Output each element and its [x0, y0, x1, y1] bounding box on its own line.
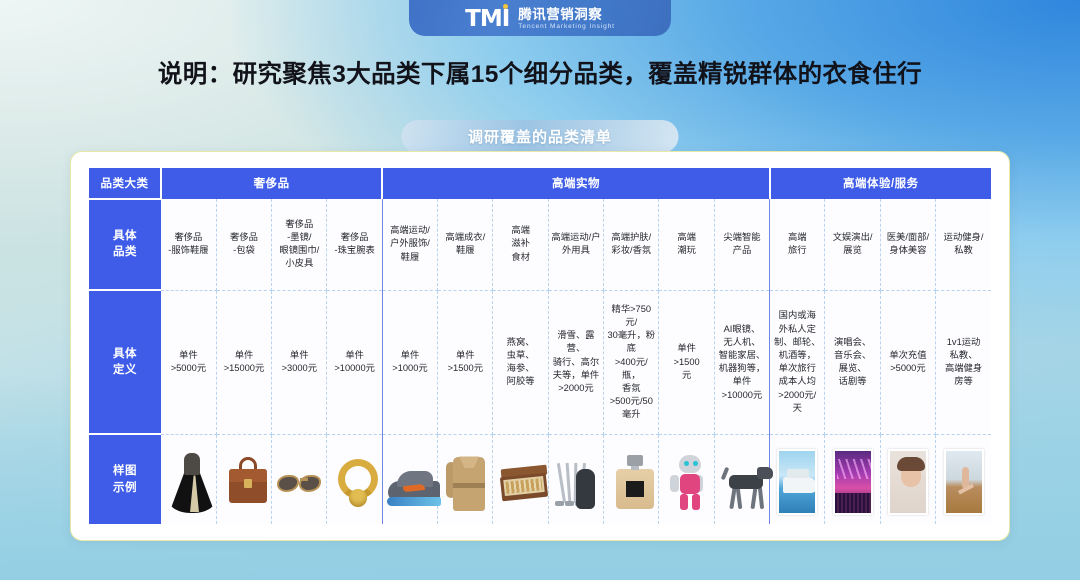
sample-thumb-2 — [219, 443, 269, 515]
cell-definition-6: 单件>1500元 — [438, 290, 493, 434]
art-part — [576, 469, 595, 509]
black-evening-dress — [163, 449, 214, 515]
cruise-ship-photo — [777, 449, 817, 515]
trench-coat — [440, 449, 490, 515]
tortoiseshell-sunglasses — [274, 449, 324, 515]
cell-sample-9 — [604, 434, 659, 524]
sample-thumb-5 — [385, 443, 435, 515]
art-part — [692, 494, 700, 510]
cell-subcategory-9: 高端护肤/彩妆/香氛 — [604, 199, 659, 291]
sample-thumb-10 — [661, 443, 711, 515]
cell-sample-8 — [548, 434, 603, 524]
cell-definition-5: 单件>1000元 — [382, 290, 437, 434]
logo-english-name: Tencent Marketing Insight — [518, 24, 615, 31]
logo-inner: TMI 腾讯营销洞察 Tencent Marketing Insight — [465, 8, 615, 31]
cell-subcategory-15: 运动健身/私教 — [936, 199, 991, 291]
cell-sample-2 — [216, 434, 271, 524]
sample-thumb-6 — [440, 443, 490, 515]
cell-definition-11: AI眼镜、无人机、智能家居、机器狗等，单件>10000元 — [714, 290, 769, 434]
cell-subcategory-13: 文娱演出/展览 — [825, 199, 880, 291]
art-part — [244, 479, 252, 488]
tmi-logo-chip: TMI 腾讯营销洞察 Tencent Marketing Insight — [409, 0, 671, 36]
cell-subcategory-1: 奢侈品-服饰鞋履 — [161, 199, 216, 291]
sample-thumb-12 — [772, 443, 822, 515]
cell-sample-7 — [493, 434, 548, 524]
cell-sample-14 — [880, 434, 935, 524]
cell-subcategory-14: 医美/面部/身体美容 — [880, 199, 935, 291]
cell-definition-13: 演唱会、音乐会、展览、话剧等 — [825, 290, 880, 434]
cell-sample-6 — [438, 434, 493, 524]
robot-dog — [717, 449, 767, 515]
sample-thumb-11 — [717, 443, 767, 515]
art-part — [453, 483, 485, 488]
cell-definition-9: 精华>750元/30毫升，粉底>400元/瓶，香氛>500元/50毫升 — [604, 290, 659, 434]
art-part — [680, 474, 700, 494]
tmi-wordmark: TMI — [465, 8, 509, 31]
fitness-studio-photo — [944, 449, 984, 515]
category-table-body: 品类大类奢侈品高端实物高端体验/服务具体品类奢侈品-服饰鞋履奢侈品-包袋奢侈品-… — [89, 168, 991, 524]
art-part — [670, 475, 679, 492]
art-part — [680, 494, 688, 510]
row-label-definition: 具体定义 — [89, 290, 161, 434]
art-part — [565, 463, 570, 503]
art-part — [555, 501, 564, 506]
cell-sample-10 — [659, 434, 714, 524]
sample-thumb-7 — [495, 443, 545, 515]
cell-sample-12 — [770, 434, 825, 524]
cell-sample-1 — [161, 434, 216, 524]
sample-thumb-3 — [274, 443, 324, 515]
cell-subcategory-6: 高端成衣/鞋履 — [438, 199, 493, 291]
cell-subcategory-5: 高端运动/户外服饰/鞋履 — [382, 199, 437, 291]
category-table-card: 品类大类奢侈品高端实物高端体验/服务具体品类奢侈品-服饰鞋履奢侈品-包袋奢侈品-… — [70, 151, 1010, 541]
art-part — [735, 487, 742, 509]
section-pill: 调研覆盖的品类清单 — [402, 120, 679, 153]
supplement-gift-box — [495, 449, 545, 515]
cell-definition-1: 单件>5000元 — [161, 290, 216, 434]
cell-subcategory-12: 高端旅行 — [770, 199, 825, 291]
row-label-sample: 样图示例 — [89, 434, 161, 524]
cell-sample-15 — [936, 434, 991, 524]
sample-thumb-1 — [163, 443, 214, 515]
art-part — [720, 467, 729, 481]
cell-definition-7: 燕窝、虫草、海参、阿胶等 — [493, 290, 548, 434]
table-group-header-1: 奢侈品 — [161, 168, 382, 199]
sample-thumb-8 — [551, 443, 601, 515]
art-part — [300, 478, 308, 481]
cell-definition-2: 单件>15000元 — [216, 290, 271, 434]
cell-subcategory-4: 奢侈品-珠宝腕表 — [327, 199, 382, 291]
art-part — [679, 455, 701, 473]
category-table: 品类大类奢侈品高端实物高端体验/服务具体品类奢侈品-服饰鞋履奢侈品-包袋奢侈品-… — [89, 168, 991, 524]
sample-thumb-15 — [938, 443, 989, 515]
table-corner-label: 品类大类 — [89, 168, 161, 199]
art-part — [387, 497, 441, 506]
tmi-dot-icon — [503, 4, 508, 9]
logo-chinese-name: 腾讯营销洞察 — [518, 8, 615, 22]
cell-sample-4 — [327, 434, 382, 524]
cell-sample-5 — [382, 434, 437, 524]
concert-stage-photo — [833, 449, 873, 515]
art-part — [626, 481, 644, 497]
page-title: 说明：研究聚焦3大品类下属15个细分品类，覆盖精锐群体的衣食住行 — [0, 55, 1080, 90]
cell-definition-8: 滑雪、露营、骑行、高尔夫等，单件>2000元 — [548, 290, 603, 434]
skincare-model-photo — [888, 449, 928, 515]
golf-clubs-bag — [551, 449, 601, 515]
cell-subcategory-10: 高端潮玩 — [659, 199, 714, 291]
cell-sample-11 — [714, 434, 769, 524]
art-part — [627, 455, 643, 466]
cell-sample-3 — [272, 434, 327, 524]
table-group-header-3: 高端体验/服务 — [770, 168, 991, 199]
art-part — [565, 501, 574, 506]
art-part — [758, 487, 764, 509]
section-pill-label: 调研覆盖的品类清单 — [468, 126, 612, 147]
robot-figure-toy — [661, 449, 711, 515]
sample-thumb-9 — [606, 443, 656, 515]
sample-thumb-13 — [827, 443, 877, 515]
cell-subcategory-11: 尖端智能产品 — [714, 199, 769, 291]
table-group-header-2: 高端实物 — [382, 168, 769, 199]
perfume-bottle — [606, 449, 656, 515]
cell-definition-4: 单件>10000元 — [327, 290, 382, 434]
art-part — [184, 453, 200, 475]
running-sneaker — [385, 449, 435, 515]
art-part — [631, 465, 639, 470]
cell-subcategory-2: 奢侈品-包袋 — [216, 199, 271, 291]
art-part — [277, 475, 299, 492]
brown-leather-handbag — [219, 449, 269, 515]
logo-text-block: 腾讯营销洞察 Tencent Marketing Insight — [518, 8, 615, 31]
art-part — [757, 467, 773, 479]
cell-definition-15: 1v1运动私教、高端健身房等 — [936, 290, 991, 434]
art-part — [349, 489, 367, 507]
cell-subcategory-8: 高端运动/户外用具 — [548, 199, 603, 291]
cell-definition-12: 国内或海外私人定制、邮轮、机酒等，单次旅行成本人均>2000元/天 — [770, 290, 825, 434]
row-label-subcategory: 具体品类 — [89, 199, 161, 291]
art-part — [557, 464, 566, 504]
gold-necklace — [329, 449, 379, 515]
sample-thumb-14 — [883, 443, 933, 515]
cell-definition-10: 单件>1500元 — [659, 290, 714, 434]
sample-thumb-4 — [329, 443, 379, 515]
cell-definition-3: 单件>3000元 — [272, 290, 327, 434]
cell-sample-13 — [825, 434, 880, 524]
cell-definition-14: 单次充值>5000元 — [880, 290, 935, 434]
cell-subcategory-3: 奢侈品-墨镜/眼镜围巾/小皮具 — [272, 199, 327, 291]
art-part — [750, 487, 757, 509]
cell-subcategory-7: 高端滋补食材 — [493, 199, 548, 291]
